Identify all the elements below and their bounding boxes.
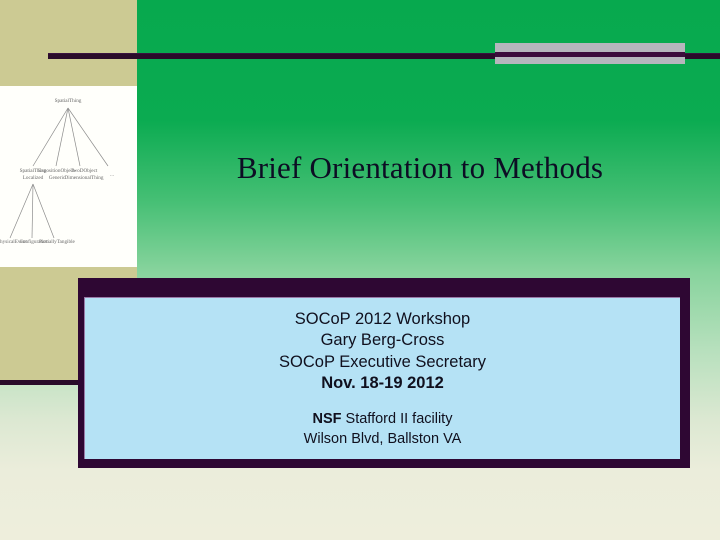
content-box: SOCoP 2012 Workshop Gary Berg-Cross SOCo… xyxy=(84,297,680,459)
presenter-name-line: Gary Berg-Cross xyxy=(279,330,486,352)
svg-text:SpatialThing: SpatialThing xyxy=(55,98,82,104)
presenter-info-block: SOCoP 2012 Workshop Gary Berg-Cross SOCo… xyxy=(279,309,486,395)
page-title: Brief Orientation to Methods xyxy=(150,148,690,188)
taxonomy-tree-thumbnail: SpatialThing SpatialThing Localized Expo… xyxy=(0,86,137,267)
svg-text:...: ... xyxy=(110,172,114,178)
gray-accent-bar-rule xyxy=(495,52,685,57)
svg-text:Localized: Localized xyxy=(23,175,44,181)
khaki-block-bottom-left xyxy=(0,266,79,380)
khaki-block-top-left xyxy=(0,0,137,86)
svg-text:TwoDObject: TwoDObject xyxy=(71,168,98,174)
svg-text:PartiallyTangible: PartiallyTangible xyxy=(39,239,75,245)
svg-text:Generic: Generic xyxy=(49,175,66,181)
venue-org-label: NSF xyxy=(313,411,342,427)
venue-facility-line: NSF Stafford II facility xyxy=(304,409,462,429)
slide-canvas: SpatialThing SpatialThing Localized Expo… xyxy=(0,0,720,540)
venue-facility-label: Stafford II facility xyxy=(342,411,453,427)
presenter-role-line: SOCoP Executive Secretary xyxy=(279,352,486,374)
workshop-line: SOCoP 2012 Workshop xyxy=(279,309,486,331)
workshop-dates-line: Nov. 18-19 2012 xyxy=(279,373,486,395)
venue-address-line: Wilson Blvd, Ballston VA xyxy=(304,429,462,449)
svg-text:DimensionalThing: DimensionalThing xyxy=(65,175,104,181)
venue-info-block: NSF Stafford II facility Wilson Blvd, Ba… xyxy=(304,409,462,449)
tree-diagram-icon: SpatialThing SpatialThing Localized Expo… xyxy=(0,86,137,267)
left-accent-rule xyxy=(0,380,79,385)
